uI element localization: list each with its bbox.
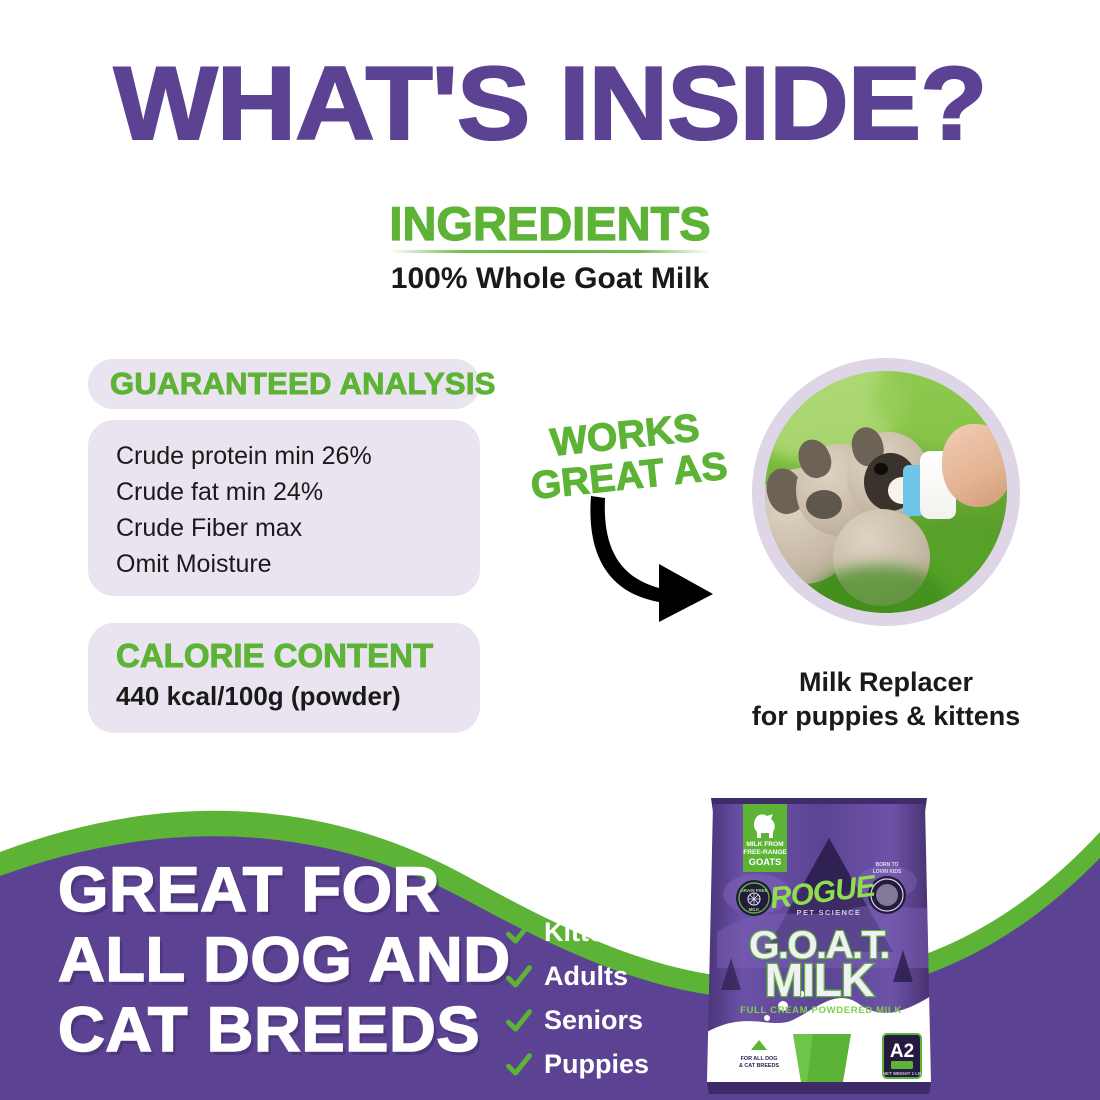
- checklist-label: Adults: [544, 961, 628, 992]
- list-item: Puppies: [505, 1044, 649, 1085]
- photo-caption-line2: for puppies & kittens: [700, 699, 1072, 733]
- svg-text:BORN TO: BORN TO: [876, 862, 899, 868]
- svg-text:FREE-RANGE: FREE-RANGE: [743, 849, 787, 856]
- svg-text:MILK: MILK: [749, 907, 761, 912]
- calorie-content-panel: CALORIE CONTENT 440 kcal/100g (powder): [88, 623, 480, 733]
- check-icon: [505, 919, 533, 947]
- puppies-bottle-feeding-photo: [765, 371, 1007, 613]
- list-item: Adults: [505, 956, 649, 997]
- check-icon: [505, 1051, 533, 1079]
- svg-text:GRAIN FREE: GRAIN FREE: [740, 888, 767, 893]
- svg-text:GOATS: GOATS: [749, 856, 782, 867]
- check-icon: [505, 1007, 533, 1035]
- checklist-label: Seniors: [544, 1005, 643, 1036]
- product-package-image: MILK FROM FREE-RANGE GOATS GRAIN FREE MI…: [697, 782, 941, 1100]
- page-title: WHAT'S INSIDE?: [0, 52, 1100, 156]
- svg-text:FULL CREAM POWDERED MILK: FULL CREAM POWDERED MILK: [740, 1005, 902, 1016]
- calorie-content-label: CALORIE CONTENT: [116, 637, 480, 675]
- calorie-content-value: 440 kcal/100g (powder): [116, 681, 480, 712]
- list-item: Seniors: [505, 1000, 649, 1041]
- banner-headline-line2: ALL DOG AND: [58, 925, 511, 995]
- suitable-for-checklist: Kittens Adults Seniors Puppies: [505, 912, 649, 1088]
- ingredients-underline-divider: [390, 250, 710, 253]
- photo-caption-line1: Milk Replacer: [700, 665, 1072, 699]
- curved-arrow-icon: [585, 490, 745, 630]
- banner-headline: GREAT FOR ALL DOG AND CAT BREEDS: [58, 855, 511, 1065]
- svg-text:& CAT BREEDS: & CAT BREEDS: [739, 1063, 779, 1069]
- banner-headline-line3: CAT BREEDS: [58, 995, 511, 1065]
- checklist-label: Puppies: [544, 1049, 649, 1080]
- analysis-line: Omit Moisture: [116, 546, 480, 582]
- analysis-line: Crude Fiber max: [116, 510, 480, 546]
- analysis-line: Crude fat min 24%: [116, 474, 480, 510]
- photo-caption: Milk Replacer for puppies & kittens: [700, 665, 1072, 733]
- list-item: Kittens: [505, 912, 649, 953]
- svg-text:MILK FROM: MILK FROM: [746, 841, 784, 848]
- svg-text:NET WEIGHT 1 LB: NET WEIGHT 1 LB: [883, 1071, 921, 1076]
- guaranteed-analysis-label: GUARANTEED ANALYSIS: [110, 366, 496, 402]
- checklist-label: Kittens: [544, 917, 636, 948]
- guaranteed-analysis-panel: Crude protein min 26% Crude fat min 24% …: [88, 420, 480, 596]
- svg-text:LOVIN KIDS: LOVIN KIDS: [873, 869, 902, 875]
- banner-headline-line1: GREAT FOR: [58, 855, 511, 925]
- svg-text:A2: A2: [890, 1041, 914, 1062]
- svg-text:MILK: MILK: [765, 954, 874, 1006]
- svg-text:FOR ALL DOG: FOR ALL DOG: [741, 1056, 778, 1062]
- svg-text:PET SCIENCE: PET SCIENCE: [797, 908, 862, 917]
- photo-ring-frame: [752, 358, 1020, 626]
- check-icon: [505, 963, 533, 991]
- analysis-line: Crude protein min 26%: [116, 438, 480, 474]
- infographic-page: WHAT'S INSIDE? INGREDIENTS 100% Whole Go…: [0, 0, 1100, 1100]
- ingredients-value: 100% Whole Goat Milk: [0, 262, 1100, 296]
- guaranteed-analysis-header-pill: GUARANTEED ANALYSIS: [88, 359, 480, 409]
- ingredients-heading: INGREDIENTS: [0, 196, 1100, 251]
